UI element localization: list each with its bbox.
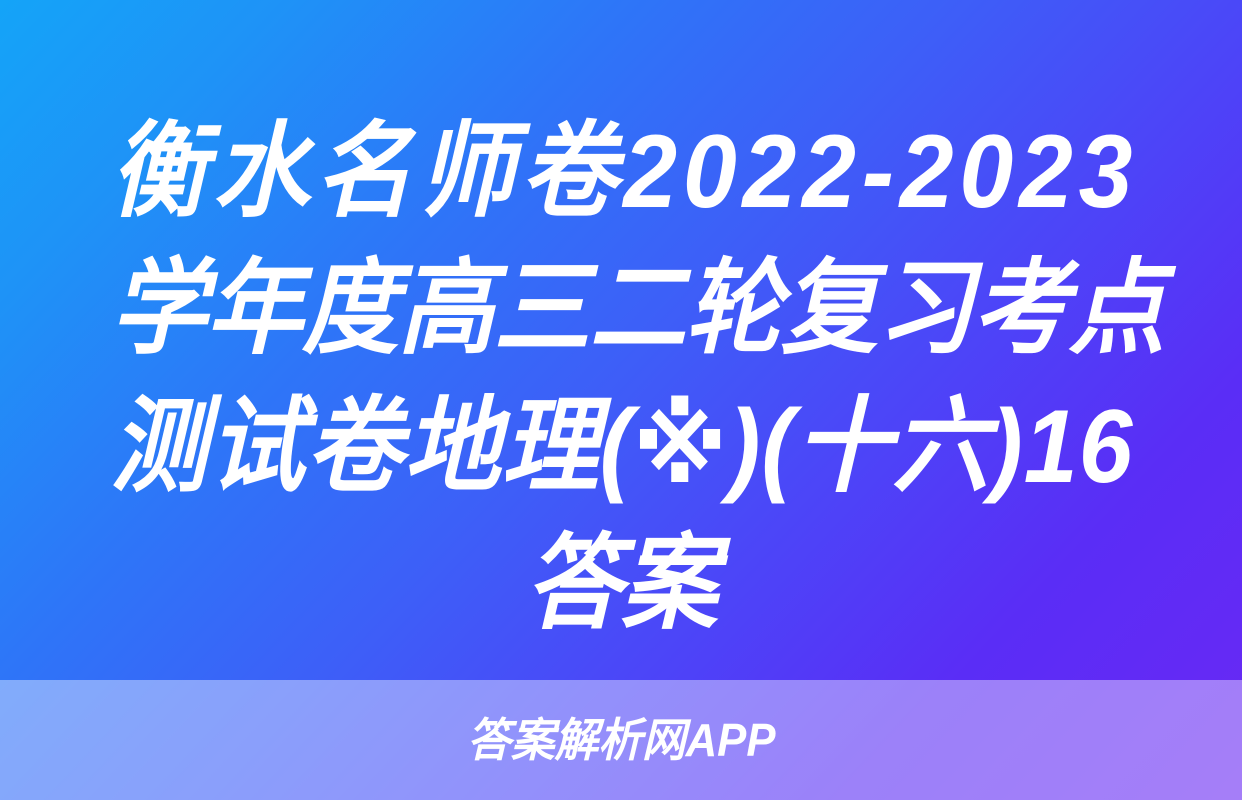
headline-char: 考 bbox=[973, 241, 1069, 378]
headline-char: ) bbox=[728, 379, 759, 516]
headline-char: 2 bbox=[623, 104, 676, 241]
headline-line-1: 衡水名师卷2022-2023 bbox=[110, 104, 1131, 241]
headline-char: 测 bbox=[110, 379, 206, 516]
headline-char: 2 bbox=[900, 104, 953, 241]
headline-char: - bbox=[862, 104, 893, 241]
watermark-band: 答案解析网APP bbox=[0, 680, 1242, 800]
headline-char: ) bbox=[990, 379, 1021, 516]
headline-char: 2 bbox=[1019, 104, 1072, 241]
headline-char: 点 bbox=[1068, 241, 1164, 378]
headline-char: 试 bbox=[208, 379, 304, 516]
headline-char: 卷 bbox=[306, 379, 402, 516]
headline-char: 水 bbox=[213, 104, 309, 241]
headline-char: 2 bbox=[802, 104, 855, 241]
headline-char: 卷 bbox=[521, 104, 617, 241]
headline-char: 理 bbox=[502, 379, 598, 516]
headline-line-4: 答案 bbox=[110, 516, 1131, 653]
headline-char: ( bbox=[600, 379, 631, 516]
headline-char: 度 bbox=[302, 241, 398, 378]
headline-char: 二 bbox=[589, 241, 685, 378]
watermark-label: 答案解析网APP bbox=[467, 717, 775, 763]
headline-char: 名 bbox=[316, 104, 412, 241]
promo-card: 衡水名师卷2022-2023 学年度高三二轮复习考点 测试卷地理(※)(十六)1… bbox=[0, 0, 1242, 800]
headline-char: 十 bbox=[795, 379, 891, 516]
headline-char: 地 bbox=[404, 379, 500, 516]
headline-char: 3 bbox=[1079, 104, 1132, 241]
headline-char: 6 bbox=[1079, 379, 1132, 516]
headline-char: ( bbox=[761, 379, 792, 516]
headline-char: 0 bbox=[683, 104, 736, 241]
headline-char: 轮 bbox=[685, 241, 781, 378]
headline-char: 高 bbox=[398, 241, 494, 378]
headline-char: 复 bbox=[781, 241, 877, 378]
headline-char: 三 bbox=[494, 241, 590, 378]
headline-line-2: 学年度高三二轮复习考点 bbox=[110, 241, 1131, 378]
headline-char: 师 bbox=[418, 104, 514, 241]
headline-char: 年 bbox=[206, 241, 302, 378]
headline-char: ※ bbox=[633, 379, 726, 516]
headline-char: 习 bbox=[877, 241, 973, 378]
headline-char: 1 bbox=[1024, 379, 1077, 516]
headline-line-3: 测试卷地理(※)(十六)16 bbox=[110, 379, 1131, 516]
headline-char: 2 bbox=[742, 104, 795, 241]
headline-char: 0 bbox=[959, 104, 1012, 241]
headline-char: 六 bbox=[893, 379, 989, 516]
headline-char: 衡 bbox=[110, 104, 206, 241]
headline-char: 学 bbox=[110, 241, 206, 378]
